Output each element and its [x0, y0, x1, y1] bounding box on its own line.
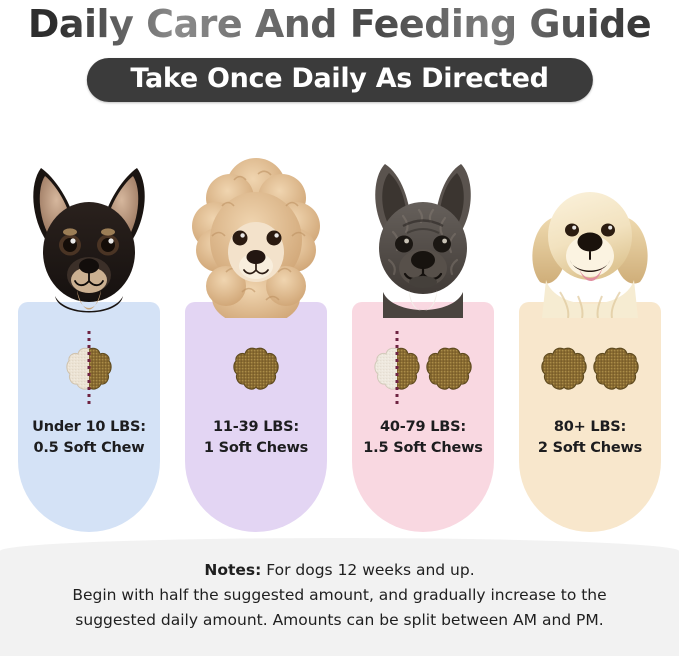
- header: Daily Care And Feeding Guide Take Once D…: [0, 0, 679, 112]
- dose-amount-2: 1 Soft Chews: [181, 438, 331, 460]
- chew-illustration-4: [515, 334, 665, 404]
- notes-line-2: Begin with half the suggested amount, an…: [22, 583, 657, 608]
- notes-text: Notes: For dogs 12 weeks and up. Begin w…: [0, 558, 679, 633]
- card-label-2: 11-39 LBS: 1 Soft Chews: [181, 417, 331, 461]
- french-bulldog-photo: [349, 140, 497, 318]
- notes-line-1-rest: For dogs 12 weeks and up.: [261, 561, 474, 579]
- dosage-card-under-10-lbs: Under 10 LBS: 0.5 Soft Chew: [14, 140, 164, 532]
- notes-line-3: suggested daily amount. Amounts can be s…: [22, 608, 657, 633]
- weight-range-4: 80+ LBS:: [554, 419, 626, 435]
- half-soft-chew-icon: [374, 347, 420, 391]
- notes-label: Notes:: [204, 561, 261, 579]
- dose-amount-1: 0.5 Soft Chew: [14, 438, 164, 460]
- notes-band: Notes: For dogs 12 weeks and up. Begin w…: [0, 538, 679, 656]
- dosage-card-11-39-lbs: 11-39 LBS: 1 Soft Chews: [181, 140, 331, 532]
- card-label-3: 40-79 LBS: 1.5 Soft Chews: [348, 417, 498, 461]
- dosage-cards-row: Under 10 LBS: 0.5 Soft Chew: [0, 140, 679, 532]
- weight-range-2: 11-39 LBS:: [213, 419, 299, 435]
- full-soft-chew-icon: [426, 347, 472, 391]
- dosage-card-80-plus-lbs: 80+ LBS: 2 Soft Chews: [515, 140, 665, 532]
- card-label-4: 80+ LBS: 2 Soft Chews: [515, 417, 665, 461]
- chew-illustration-2: [181, 334, 331, 404]
- full-soft-chew-icon: [593, 347, 639, 391]
- weight-range-1: Under 10 LBS:: [32, 419, 146, 435]
- full-soft-chew-icon: [233, 347, 279, 391]
- chihuahua-photo: [15, 140, 163, 318]
- page-title: Daily Care And Feeding Guide: [0, 2, 679, 46]
- subtitle-text: Take Once Daily As Directed: [130, 65, 548, 93]
- dosage-card-40-79-lbs: 40-79 LBS: 1.5 Soft Chews: [348, 140, 498, 532]
- half-soft-chew-icon: [66, 347, 112, 391]
- chew-illustration-1: [14, 334, 164, 404]
- notes-line-1: Notes: For dogs 12 weeks and up.: [22, 558, 657, 583]
- split-dotted-line: [396, 331, 399, 407]
- chew-illustration-3: [348, 334, 498, 404]
- split-dotted-line: [88, 331, 91, 407]
- golden-retriever-photo: [516, 140, 664, 318]
- dose-amount-3: 1.5 Soft Chews: [348, 438, 498, 460]
- weight-range-3: 40-79 LBS:: [380, 419, 466, 435]
- full-soft-chew-icon: [541, 347, 587, 391]
- poodle-photo: [182, 140, 330, 318]
- card-label-1: Under 10 LBS: 0.5 Soft Chew: [14, 417, 164, 461]
- subtitle-pill-badge: Take Once Daily As Directed: [86, 58, 592, 102]
- dose-amount-4: 2 Soft Chews: [515, 438, 665, 460]
